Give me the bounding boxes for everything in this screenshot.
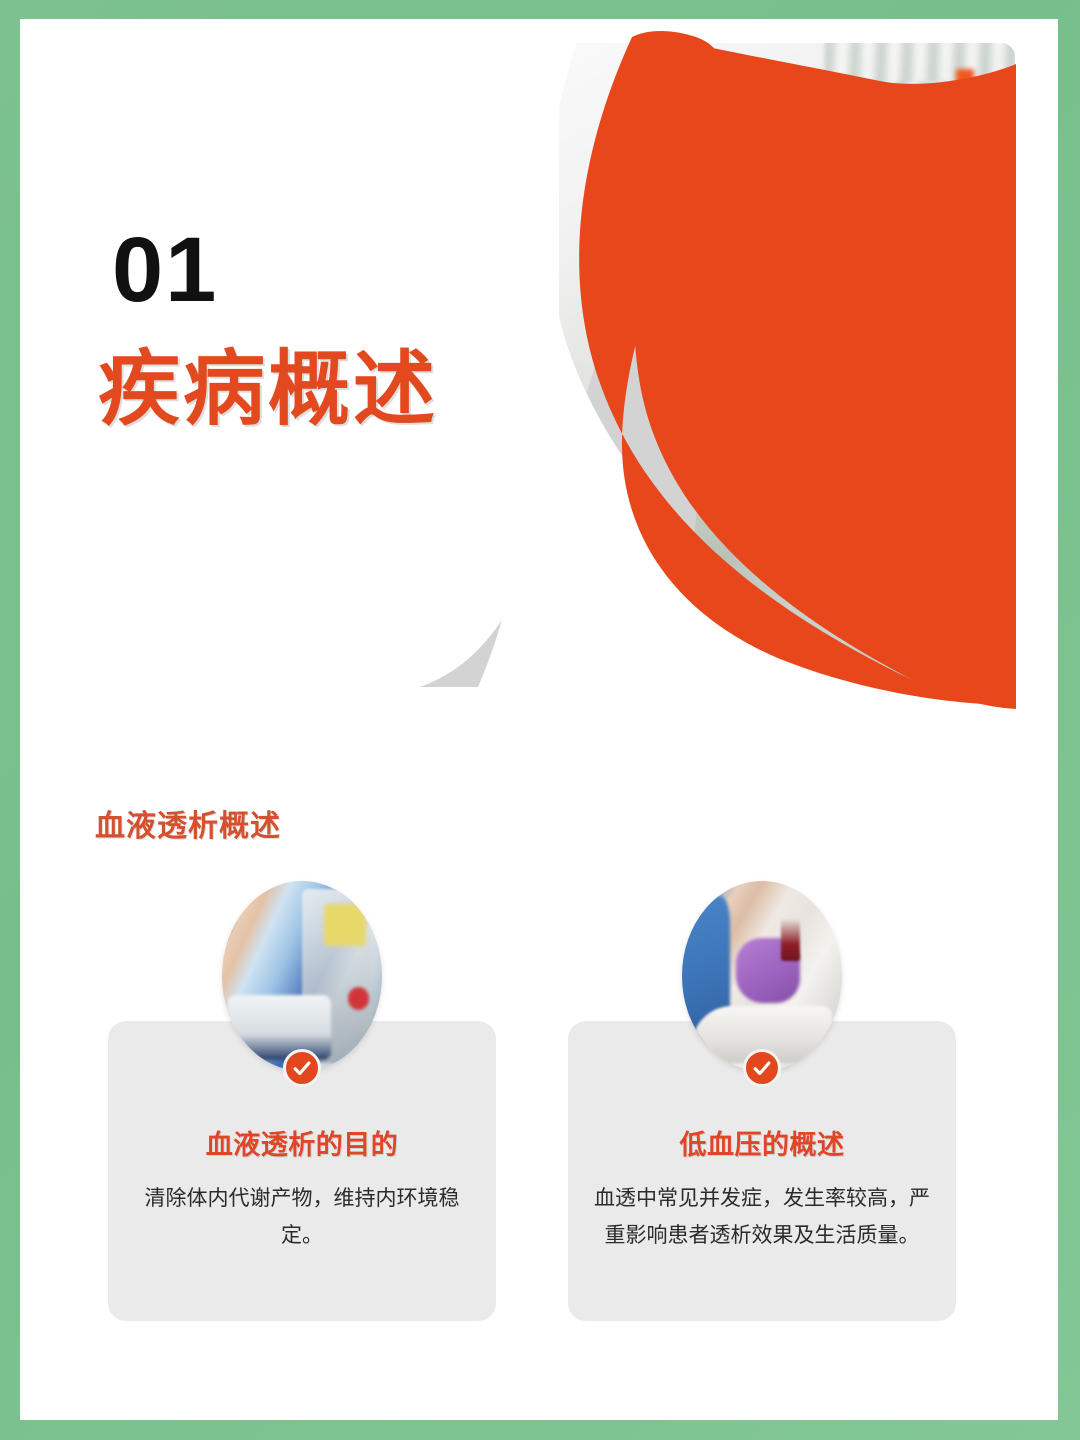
photo-patient-bed	[228, 995, 330, 1060]
check-icon	[743, 1049, 781, 1087]
photo-teal-accent	[965, 513, 997, 553]
photo-red-connector	[348, 987, 369, 1010]
card-title: 低血压的概述	[568, 1123, 956, 1162]
page-title: 疾病概述	[98, 349, 438, 431]
dialysis-machine-photo	[222, 881, 382, 1071]
card-circle-image	[222, 881, 382, 1071]
section-number: 01	[112, 224, 218, 316]
hero-photo-background	[559, 43, 1015, 705]
info-card-1[interactable]: 低血压的概述 血透中常见并发症，发生率较高，严重影响患者透析效果及生活质量。	[568, 881, 956, 1321]
slide-frame: 01 疾病概述 血液透析概述 血液透析的目的	[0, 0, 1080, 1440]
card-circle-image	[682, 881, 842, 1071]
info-card-0[interactable]: 血液透析的目的 清除体内代谢产物，维持内环境稳定。	[108, 881, 496, 1321]
slide-canvas: 01 疾病概述 血液透析概述 血液透析的目的	[20, 19, 1058, 1420]
blood-draw-photo	[682, 881, 842, 1071]
card-body-text: 清除体内代谢产物，维持内环境稳定。	[132, 1181, 472, 1255]
photo-thumb	[773, 328, 851, 454]
card-list: 血液透析的目的 清除体内代谢产物，维持内环境稳定。 低血压的概述	[20, 881, 1058, 1341]
check-icon	[283, 1049, 321, 1087]
hero-image	[559, 43, 1015, 705]
photo-supplies-blur	[851, 83, 1006, 189]
section-heading: 血液透析概述	[95, 801, 281, 845]
card-title: 血液透析的目的	[108, 1123, 496, 1162]
card-body-text: 血透中常见并发症，发生率较高，严重影响患者透析效果及生活质量。	[592, 1181, 932, 1255]
photo-orange-accent	[956, 69, 974, 102]
